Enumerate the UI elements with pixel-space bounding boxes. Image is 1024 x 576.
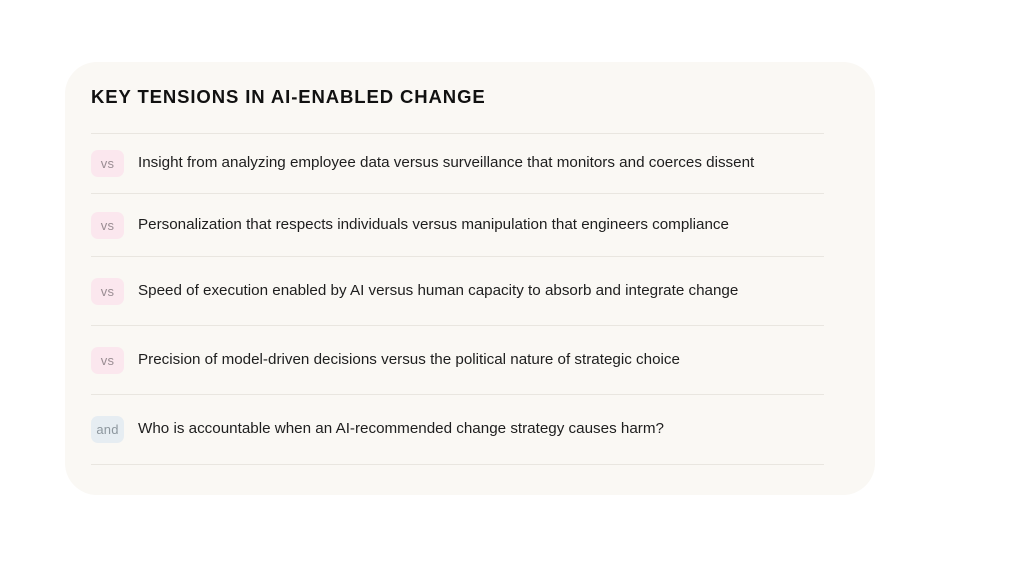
list-item-label: Insight from analyzing employee data ver… <box>138 153 754 174</box>
list-item[interactable]: and Who is accountable when an AI-recomm… <box>91 395 824 464</box>
list-item-label: Speed of execution enabled by AI versus … <box>138 281 738 302</box>
divider-bottom <box>91 464 824 465</box>
list-item[interactable]: vs Precision of model-driven decisions v… <box>91 326 824 394</box>
list-item-label: Precision of model-driven decisions vers… <box>138 350 680 371</box>
relation-badge: vs <box>91 150 124 177</box>
relation-badge: vs <box>91 278 124 305</box>
relation-badge: vs <box>91 212 124 239</box>
relation-badge: vs <box>91 347 124 374</box>
page-title: Key Tensions in AI-Enabled Change <box>91 86 486 108</box>
list-item-label: Who is accountable when an AI-recommende… <box>138 419 664 440</box>
tensions-list: vs Insight from analyzing employee data … <box>91 133 824 465</box>
slide-canvas: Key Tensions in AI-Enabled Change vs Ins… <box>0 0 1024 576</box>
relation-badge: and <box>91 416 124 443</box>
list-item-label: Personalization that respects individual… <box>138 215 729 236</box>
list-item[interactable]: vs Personalization that respects individ… <box>91 194 824 256</box>
list-item[interactable]: vs Speed of execution enabled by AI vers… <box>91 257 824 325</box>
list-item[interactable]: vs Insight from analyzing employee data … <box>91 134 824 193</box>
